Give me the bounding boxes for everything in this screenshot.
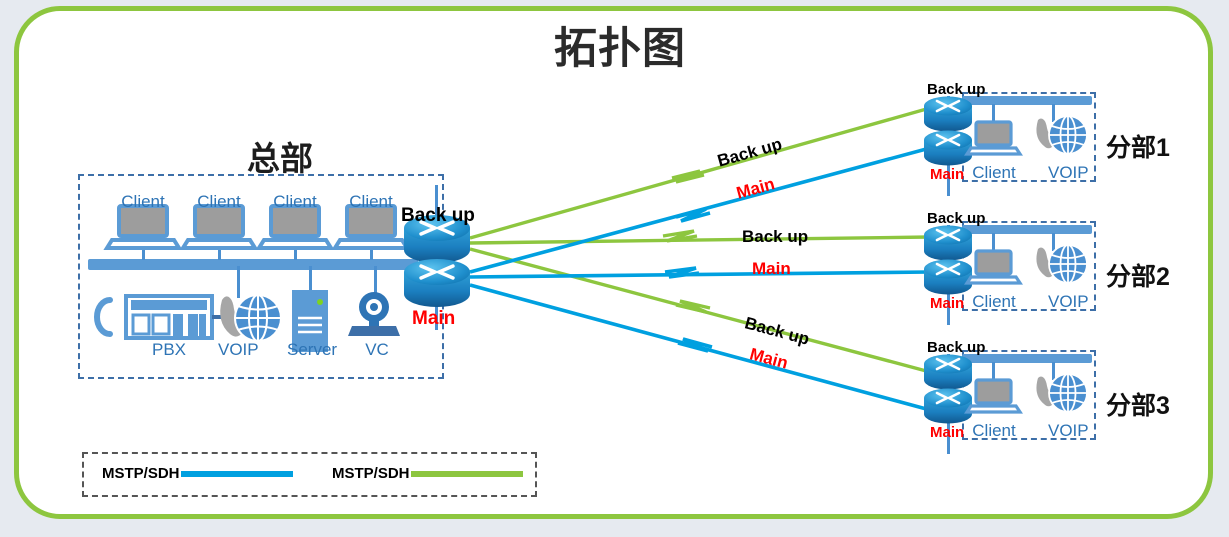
- legend-label-backup: MSTP/SDH: [332, 465, 410, 482]
- router-backup-icon: [924, 355, 972, 390]
- branch3-name: 分部3: [1106, 386, 1170, 422]
- legend-item-main: MSTP/SDH: [102, 465, 293, 482]
- legend-swatch-main: [181, 471, 293, 477]
- voip-globe-icon: [1036, 374, 1087, 412]
- laptop-icon: [967, 380, 1020, 412]
- legend-swatch-backup: [411, 471, 523, 477]
- topology-diagram: .lnG { stroke:#8DC63F; stroke-width:3.4;…: [0, 0, 1229, 537]
- branch3-router-backup-label: Back up: [927, 339, 985, 356]
- branch3-router-main-label: Main: [930, 424, 964, 441]
- branch3-client-label: Client: [972, 421, 1016, 441]
- legend-label-main: MSTP/SDH: [102, 465, 180, 482]
- branch3-voip-label: VOIP: [1048, 421, 1088, 441]
- router-main-icon: [924, 389, 972, 424]
- legend: MSTP/SDH MSTP/SDH: [82, 452, 537, 497]
- legend-item-backup: MSTP/SDH: [332, 465, 523, 482]
